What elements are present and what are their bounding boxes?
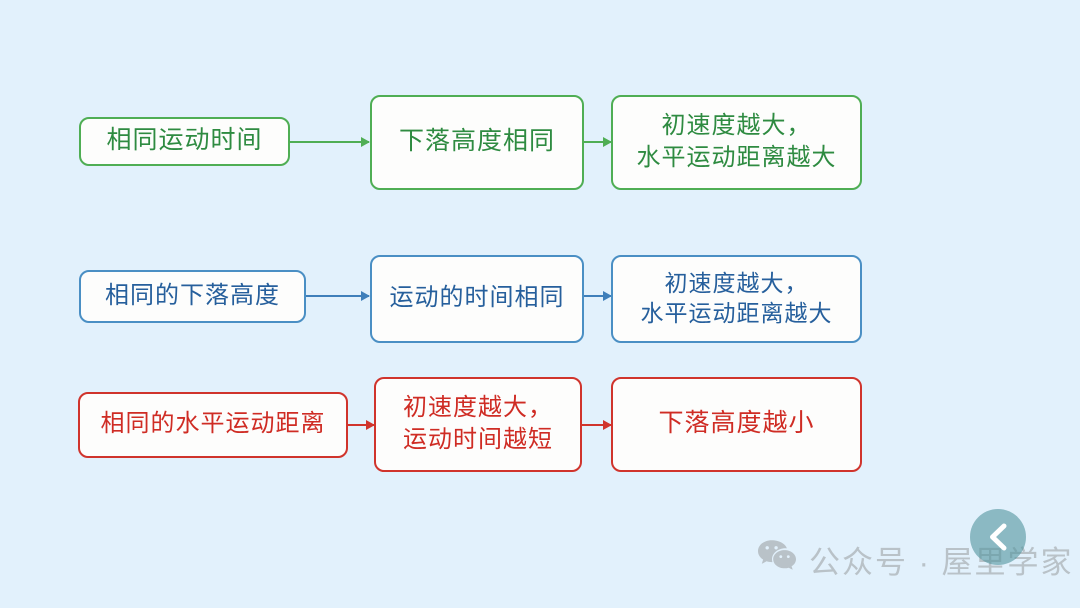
flow-node-g3[interactable]: 初速度越大， 水平运动距离越大 [611, 95, 862, 190]
arrow-shaft [290, 141, 369, 143]
arrow-head [361, 291, 370, 301]
flow-node-g1[interactable]: 相同运动时间 [79, 117, 290, 166]
arrow-right-icon [348, 424, 374, 426]
watermark: 公众号 · 屋里学家 [757, 537, 1074, 582]
watermark-label: 公众号 · 屋里学家 [809, 537, 1074, 582]
flow-node-b2[interactable]: 运动的时间相同 [370, 255, 584, 343]
flow-node-b1[interactable]: 相同的下落高度 [79, 270, 306, 323]
chevron-left-icon [985, 523, 1011, 551]
arrow-right-icon [584, 141, 611, 143]
flow-node-r3[interactable]: 下落高度越小 [611, 377, 862, 472]
flow-node-r1[interactable]: 相同的水平运动距离 [78, 392, 348, 458]
arrow-right-icon [290, 141, 369, 143]
back-button[interactable] [970, 509, 1026, 565]
flow-node-b3[interactable]: 初速度越大， 水平运动距离越大 [611, 255, 862, 343]
arrow-right-icon [582, 424, 611, 426]
arrow-right-icon [306, 295, 369, 297]
wechat-icon [757, 539, 797, 581]
diagram-canvas: 相同运动时间 下落高度相同 初速度越大， 水平运动距离越大 相同的下落高度 运动… [0, 0, 1080, 608]
arrow-shaft [306, 295, 369, 297]
arrow-head [361, 137, 370, 147]
flow-node-r2[interactable]: 初速度越大， 运动时间越短 [374, 377, 582, 472]
flow-node-g2[interactable]: 下落高度相同 [370, 95, 584, 190]
arrow-right-icon [584, 295, 611, 297]
